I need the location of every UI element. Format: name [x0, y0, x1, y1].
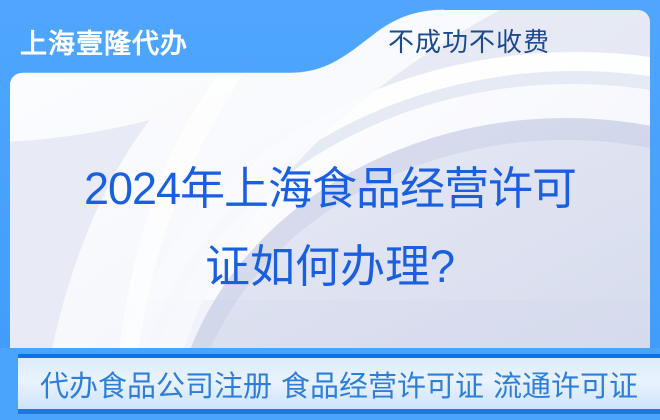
keyword-bar: 代办食品公司注册食品经营许可证流通许可证	[0, 348, 660, 420]
brand-title: 上海壹隆代办	[20, 22, 188, 61]
keyword-list: 代办食品公司注册食品经营许可证流通许可证	[40, 363, 638, 405]
keyword-bar-inner: 代办食品公司注册食品经营许可证流通许可证	[18, 354, 660, 414]
keyword-item-3: 流通许可证	[493, 371, 638, 403]
headline: 2024年上海食品经营许可 证如何办理?	[10, 150, 650, 306]
headline-line-1: 2024年上海食品经营许可	[10, 150, 650, 228]
keyword-item-2: 食品经营许可证	[281, 371, 484, 403]
keyword-item-1: 代办食品公司注册	[40, 371, 272, 403]
headline-line-2: 证如何办理?	[10, 228, 650, 306]
tagline-text: 不成功不收费	[388, 22, 550, 59]
poster-canvas: 上海壹隆代办 不成功不收费 2024年上海食品经营许可 证如何办理? 代办食品公…	[0, 0, 660, 420]
